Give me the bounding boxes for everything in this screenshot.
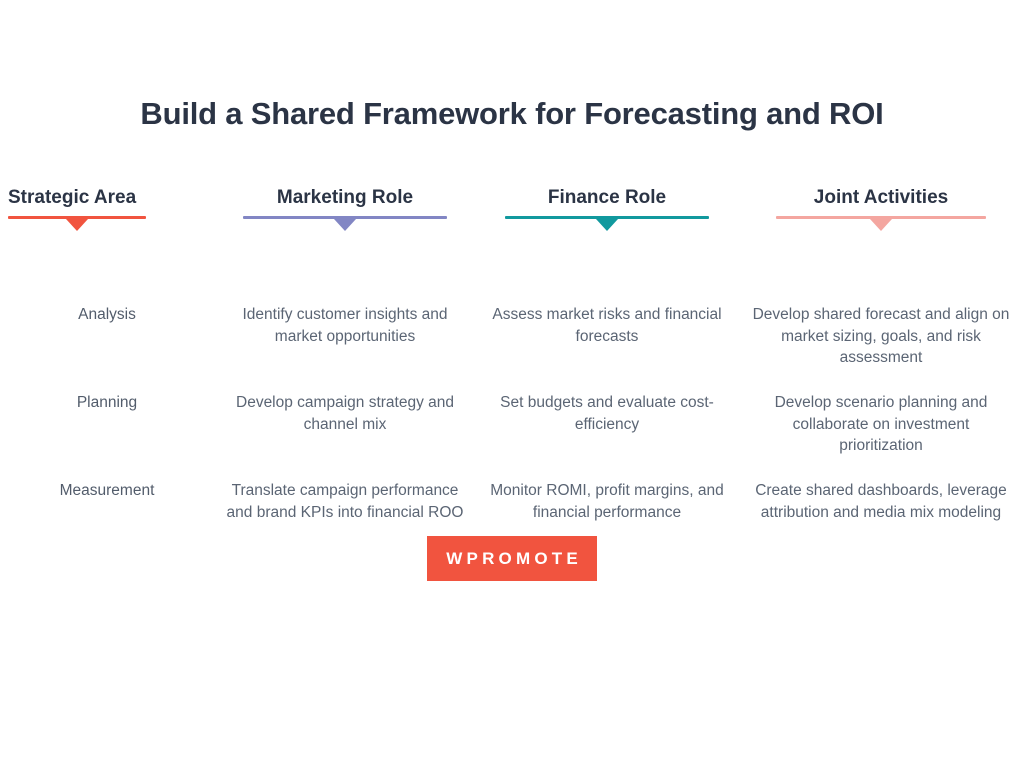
cell-strategic-area: Planning xyxy=(0,326,214,414)
cell-text: Monitor ROMI, profit margins, and financ… xyxy=(482,414,732,523)
framework-matrix: Strategic Area Marketing Role Finance Ro… xyxy=(0,186,1024,502)
column-header-label: Joint Activities xyxy=(750,186,1012,210)
cell-strategic-area: Measurement xyxy=(0,414,214,502)
wpromote-logo: WPROMOTE xyxy=(427,536,597,581)
cell-finance-role: Assess market risks and financial foreca… xyxy=(476,238,738,326)
page-title: Build a Shared Framework for Forecasting… xyxy=(0,94,1024,134)
accent-triangle-icon xyxy=(870,219,892,231)
cell-text: Planning xyxy=(8,326,206,414)
table-row: Planning Develop campaign strategy and c… xyxy=(0,326,1024,414)
cell-strategic-area: Analysis xyxy=(0,238,214,326)
column-header-label: Marketing Role xyxy=(220,186,470,210)
cell-marketing-role: Develop campaign strategy and channel mi… xyxy=(214,326,476,414)
cell-marketing-role: Identify customer insights and market op… xyxy=(214,238,476,326)
cell-finance-role: Set budgets and evaluate cost-efficiency xyxy=(476,326,738,414)
accent-triangle-icon xyxy=(334,219,356,231)
cell-text: Translate campaign performance and brand… xyxy=(220,414,470,523)
accent-rule-strategic-area xyxy=(8,216,146,232)
cell-text: Create shared dashboards, leverage attri… xyxy=(750,414,1012,523)
accent-triangle-icon xyxy=(596,219,618,231)
accent-rule-joint-activities xyxy=(776,216,986,232)
column-header-marketing-role: Marketing Role xyxy=(214,186,476,238)
table-row: Measurement Translate campaign performan… xyxy=(0,414,1024,502)
column-header-strategic-area: Strategic Area xyxy=(0,186,214,238)
cell-marketing-role: Translate campaign performance and brand… xyxy=(214,414,476,502)
accent-rule-marketing-role xyxy=(243,216,447,232)
cell-joint-activities: Develop shared forecast and align on mar… xyxy=(738,238,1024,326)
column-header-label: Finance Role xyxy=(482,186,732,210)
column-header-joint-activities: Joint Activities xyxy=(738,186,1024,238)
cell-text: Analysis xyxy=(8,238,206,326)
cell-joint-activities: Develop scenario planning and collaborat… xyxy=(738,326,1024,414)
accent-triangle-icon xyxy=(66,219,88,231)
cell-finance-role: Monitor ROMI, profit margins, and financ… xyxy=(476,414,738,502)
column-header-label: Strategic Area xyxy=(8,186,206,210)
slide-canvas: Build a Shared Framework for Forecasting… xyxy=(0,0,1024,768)
logo-text: WPROMOTE xyxy=(442,550,582,567)
matrix-header-row: Strategic Area Marketing Role Finance Ro… xyxy=(0,186,1024,238)
cell-text: Measurement xyxy=(8,414,206,502)
cell-joint-activities: Create shared dashboards, leverage attri… xyxy=(738,414,1024,502)
accent-rule-finance-role xyxy=(505,216,709,232)
column-header-finance-role: Finance Role xyxy=(476,186,738,238)
table-row: Analysis Identify customer insights and … xyxy=(0,238,1024,326)
